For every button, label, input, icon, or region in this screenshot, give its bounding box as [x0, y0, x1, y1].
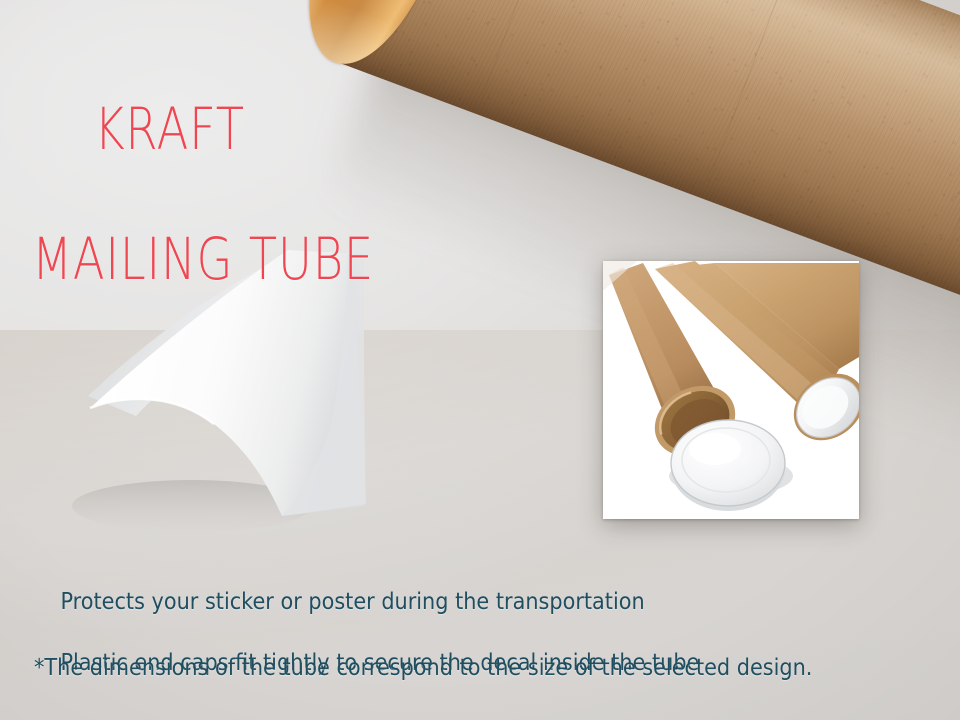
- footnote: *The dimensions of the tube correspond t…: [34, 655, 812, 681]
- product-banner: KRAFT MAILING TUBE Protects your sticker…: [0, 0, 960, 720]
- product-detail-photo[interactable]: [603, 261, 859, 519]
- feature-description: Protects your sticker or poster during t…: [34, 556, 699, 709]
- headline-line-2: MAILING TUBE: [32, 227, 374, 292]
- plastic-end-cap: [671, 420, 785, 511]
- page-title: KRAFT MAILING TUBE: [32, 32, 374, 422]
- headline-line-1: KRAFT: [94, 95, 245, 163]
- feature-line-1: Protects your sticker or poster during t…: [60, 589, 644, 615]
